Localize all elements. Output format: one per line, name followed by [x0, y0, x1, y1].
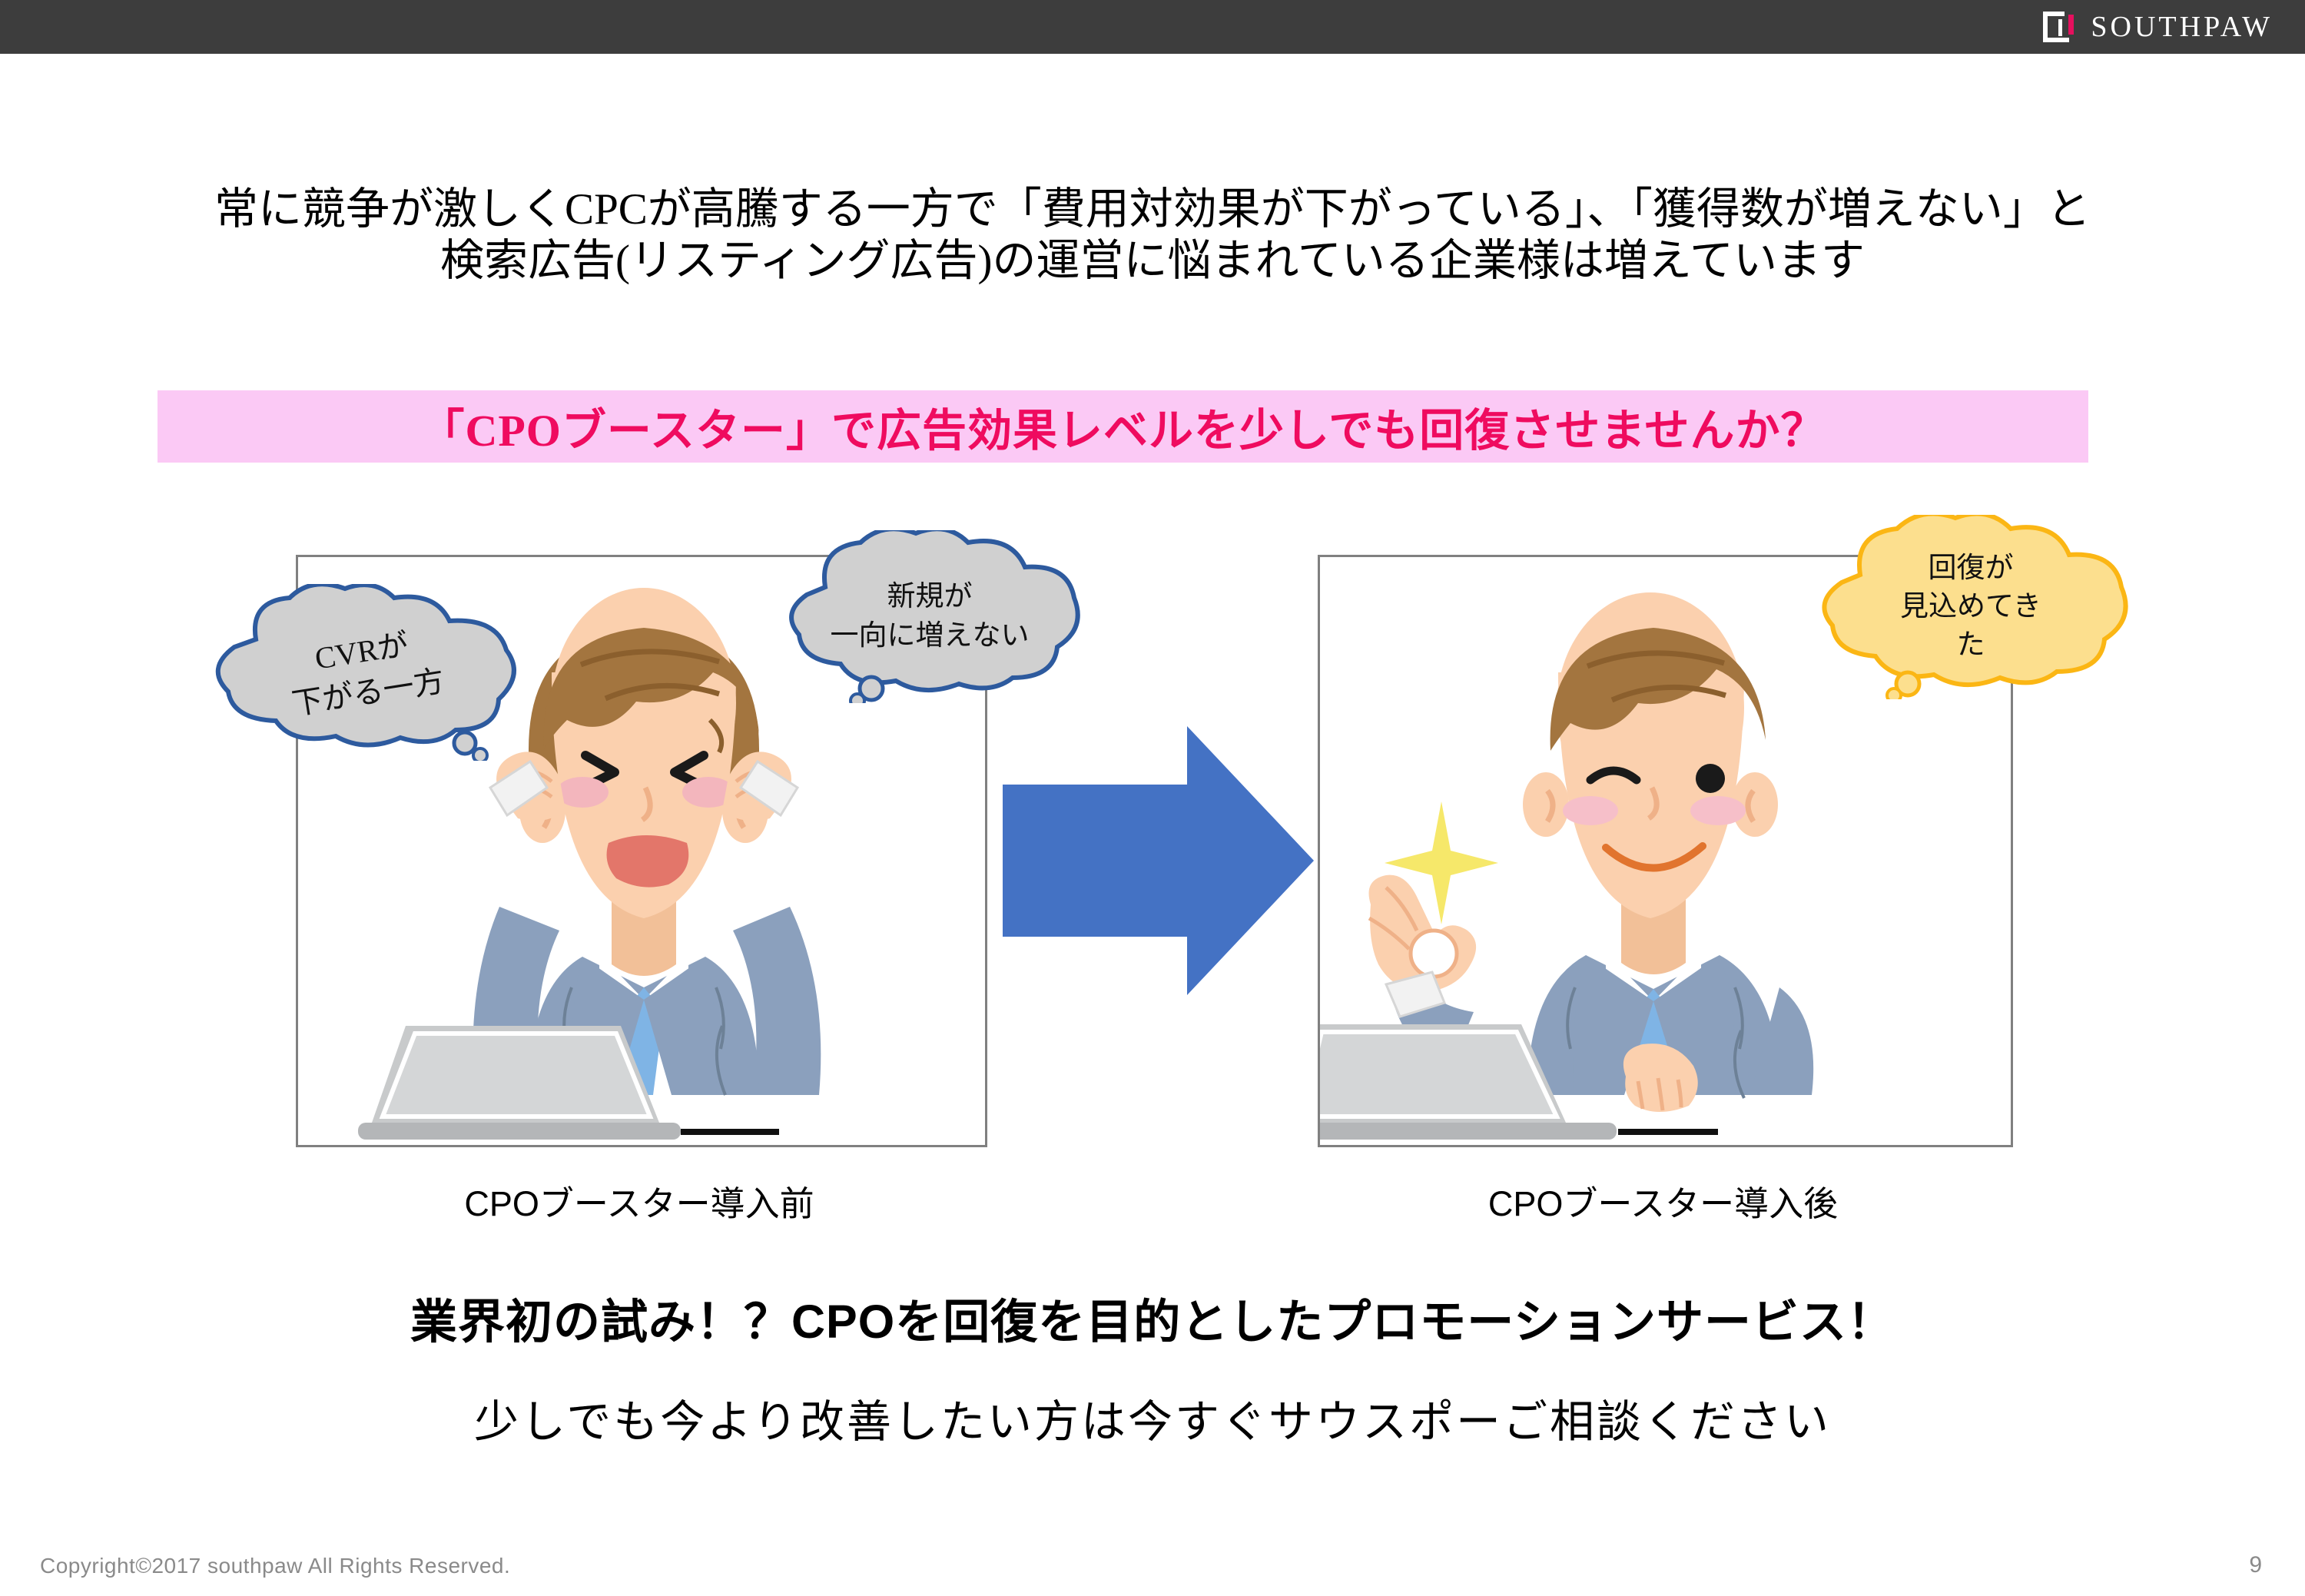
thought-bubble-new-customers: 新規が 一向に増えない	[776, 530, 1083, 703]
highlight-band: 「CPOブースター」で広告効果レベルを少しでも回復させませんか？	[158, 390, 2088, 463]
cloud-shape-icon	[776, 530, 1083, 703]
footer-page-number: 9	[2249, 1552, 2262, 1578]
southpaw-logo-icon	[2043, 12, 2074, 42]
transition-arrow-icon	[1003, 726, 1314, 995]
bottom-message-block: 業界初の試み！？CPOを回復を目的としたプロモーションサービス！ 少しでも今より…	[0, 1283, 2305, 1450]
footer-copyright: Copyright©2017 southpaw All Rights Reser…	[40, 1554, 510, 1578]
highlight-text: 「CPOブースター」で広告効果レベルを少しでも回復させませんか？	[420, 394, 1826, 459]
headline-line-2: 検索広告(リスティング広告)の運営に悩まれている企業様は増えています	[0, 235, 2305, 287]
cloud-shape-icon	[1809, 515, 2132, 699]
brand-lockup: SOUTHPAW	[2043, 10, 2273, 44]
cloud-shape-icon	[196, 584, 534, 761]
brand-name: SOUTHPAW	[2091, 10, 2273, 44]
thought-bubble-recovery: 回復が 見込めてき た	[1809, 515, 2132, 699]
bottom-message-line1: 業界初の試み！？CPOを回復を目的としたプロモーションサービス！	[0, 1283, 2305, 1352]
thought-bubble-cvr: CVRが 下がる一方	[196, 584, 534, 761]
headline-line-1: 常に競争が激しくCPCが高騰する一方で「費用対効果が下がっている」、「獲得数が増…	[0, 184, 2305, 235]
header-bar: SOUTHPAW	[0, 0, 2305, 54]
caption-after: CPOブースター導入後	[1318, 1176, 2008, 1226]
bottom-message-line2: 少しでも今より改善したい方は今すぐサウスポーご相談ください	[0, 1385, 2305, 1450]
headline-block: 常に競争が激しくCPCが高騰する一方で「費用対効果が下がっている」、「獲得数が増…	[0, 184, 2305, 287]
caption-before: CPOブースター導入前	[296, 1176, 983, 1226]
right-arrow-icon	[1003, 726, 1314, 995]
